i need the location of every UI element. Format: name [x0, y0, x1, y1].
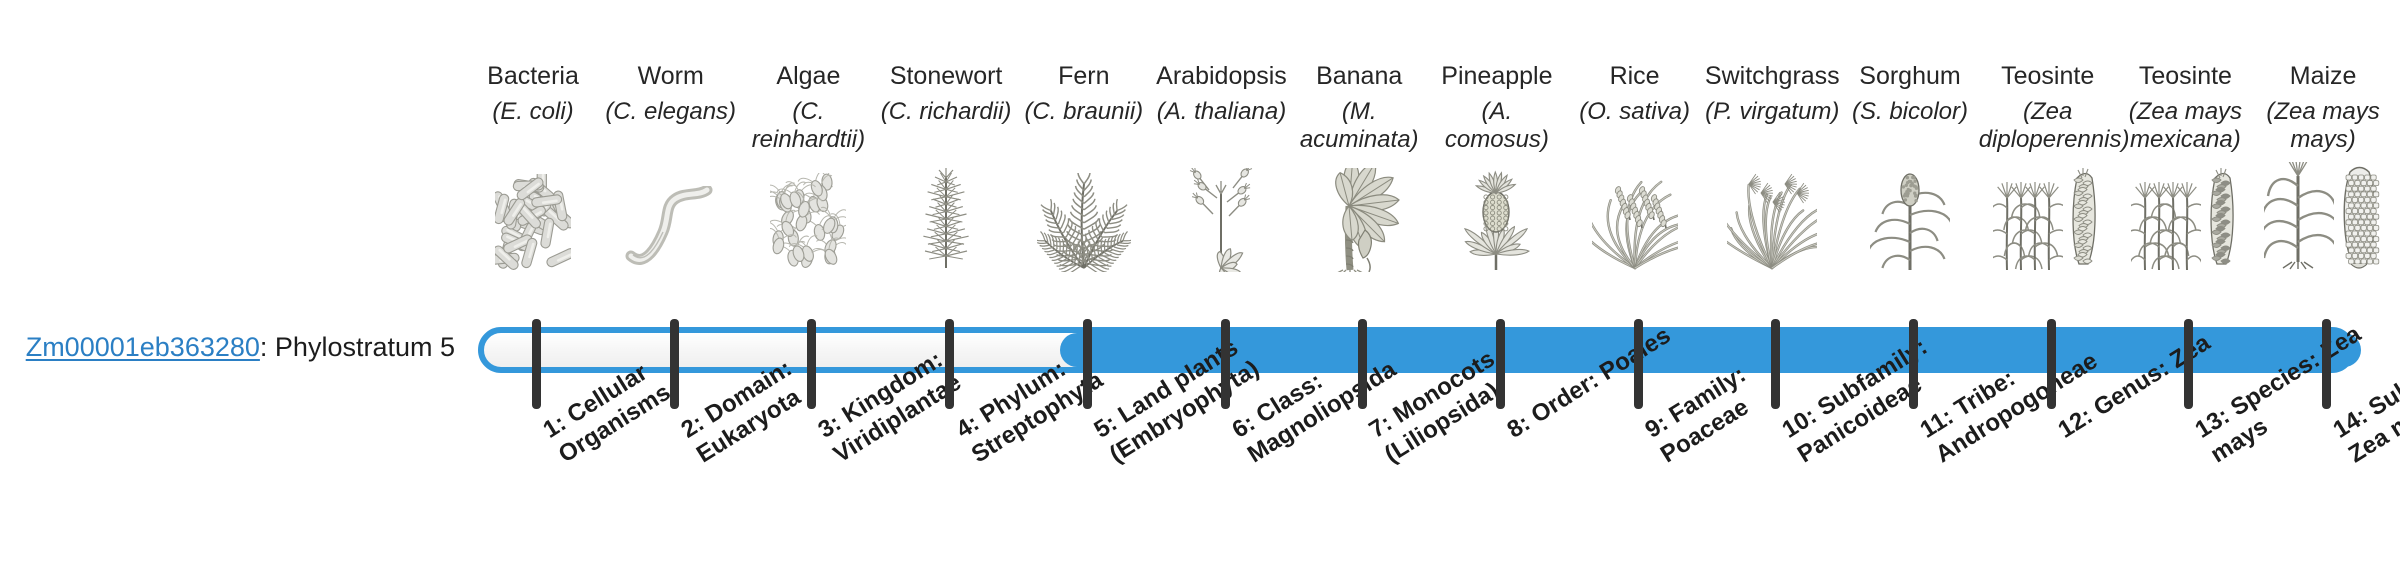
arabidopsis-illustration	[1153, 160, 1291, 272]
species-scientific-name: (Zea diploperennis)	[1979, 98, 2117, 155]
sorghum-illustration	[1841, 160, 1979, 272]
species-scientific-name: (C. reinhardtii)	[739, 98, 877, 155]
species-common-name: Stonewort	[877, 62, 1015, 91]
stratum-tick-11	[1909, 319, 1918, 409]
gene-phylostratum-label: Zm00001eb363280: Phylostratum 5	[0, 333, 455, 363]
stratum-tick-6	[1221, 319, 1230, 409]
stratum-tick-14	[2322, 319, 2331, 409]
species-scientific-name: (M. acuminata)	[1290, 98, 1428, 155]
stratum-tick-13	[2184, 319, 2193, 409]
species-common-name: Banana	[1290, 62, 1428, 91]
stonewort-illustration	[877, 160, 1015, 272]
species-scientific-name: (A. thaliana)	[1153, 98, 1291, 126]
fern-illustration	[1015, 160, 1153, 272]
stratum-tick-4	[945, 319, 954, 409]
teosinte-diploperennis-illustration	[1979, 160, 2117, 272]
stratum-tick-7	[1358, 319, 1367, 409]
species-scientific-name: (Zea mays mays)	[2254, 98, 2392, 155]
species-scientific-name: (C. braunii)	[1015, 98, 1153, 126]
phylostratum-value: Phylostratum 5	[275, 332, 455, 362]
species-scientific-name: (P. virgatum)	[1703, 98, 1841, 126]
species-scientific-name: (E. coli)	[464, 98, 602, 126]
bacteria-illustration	[464, 160, 602, 272]
rice-illustration	[1566, 160, 1704, 272]
banana-illustration	[1290, 160, 1428, 272]
algae-illustration	[739, 160, 877, 272]
species-common-name: Algae	[739, 62, 877, 91]
species-common-name: Fern	[1015, 62, 1153, 91]
species-common-name: Bacteria	[464, 62, 602, 91]
species-common-name: Maize	[2254, 62, 2392, 91]
stratum-tick-12	[2047, 319, 2056, 409]
species-scientific-name: (A. comosus)	[1428, 98, 1566, 155]
species-scientific-name: (O. sativa)	[1566, 98, 1704, 126]
species-scientific-name: (C. elegans)	[602, 98, 740, 126]
worm-illustration	[602, 160, 740, 272]
gene-id-link[interactable]: Zm00001eb363280	[26, 332, 260, 362]
species-common-name: Teosinte	[1979, 62, 2117, 91]
species-scientific-name: (C. richardii)	[877, 98, 1015, 126]
stratum-tick-5	[1083, 319, 1092, 409]
stratum-tick-2	[670, 319, 679, 409]
species-scientific-name: (Zea mays mexicana)	[2116, 98, 2254, 155]
species-common-name: Switchgrass	[1703, 62, 1841, 91]
teosinte-mexicana-illustration	[2116, 160, 2254, 272]
species-scientific-name: (S. bicolor)	[1841, 98, 1979, 126]
stratum-tick-9	[1634, 319, 1643, 409]
stratum-tick-3	[807, 319, 816, 409]
species-common-name: Pineapple	[1428, 62, 1566, 91]
species-common-name: Sorghum	[1841, 62, 1979, 91]
switchgrass-illustration	[1703, 160, 1841, 272]
stratum-tick-10	[1771, 319, 1780, 409]
stratum-tick-1	[532, 319, 541, 409]
phylostratum-chart: Zm00001eb363280: Phylostratum 5 Bacteria…	[0, 0, 2400, 580]
pineapple-illustration	[1428, 160, 1566, 272]
stratum-tick-8	[1496, 319, 1505, 409]
species-common-name: Teosinte	[2116, 62, 2254, 91]
species-common-name: Arabidopsis	[1153, 62, 1291, 91]
maize-illustration	[2254, 160, 2392, 272]
species-common-name: Rice	[1566, 62, 1704, 91]
species-common-name: Worm	[602, 62, 740, 91]
gene-label-separator: :	[260, 332, 275, 362]
